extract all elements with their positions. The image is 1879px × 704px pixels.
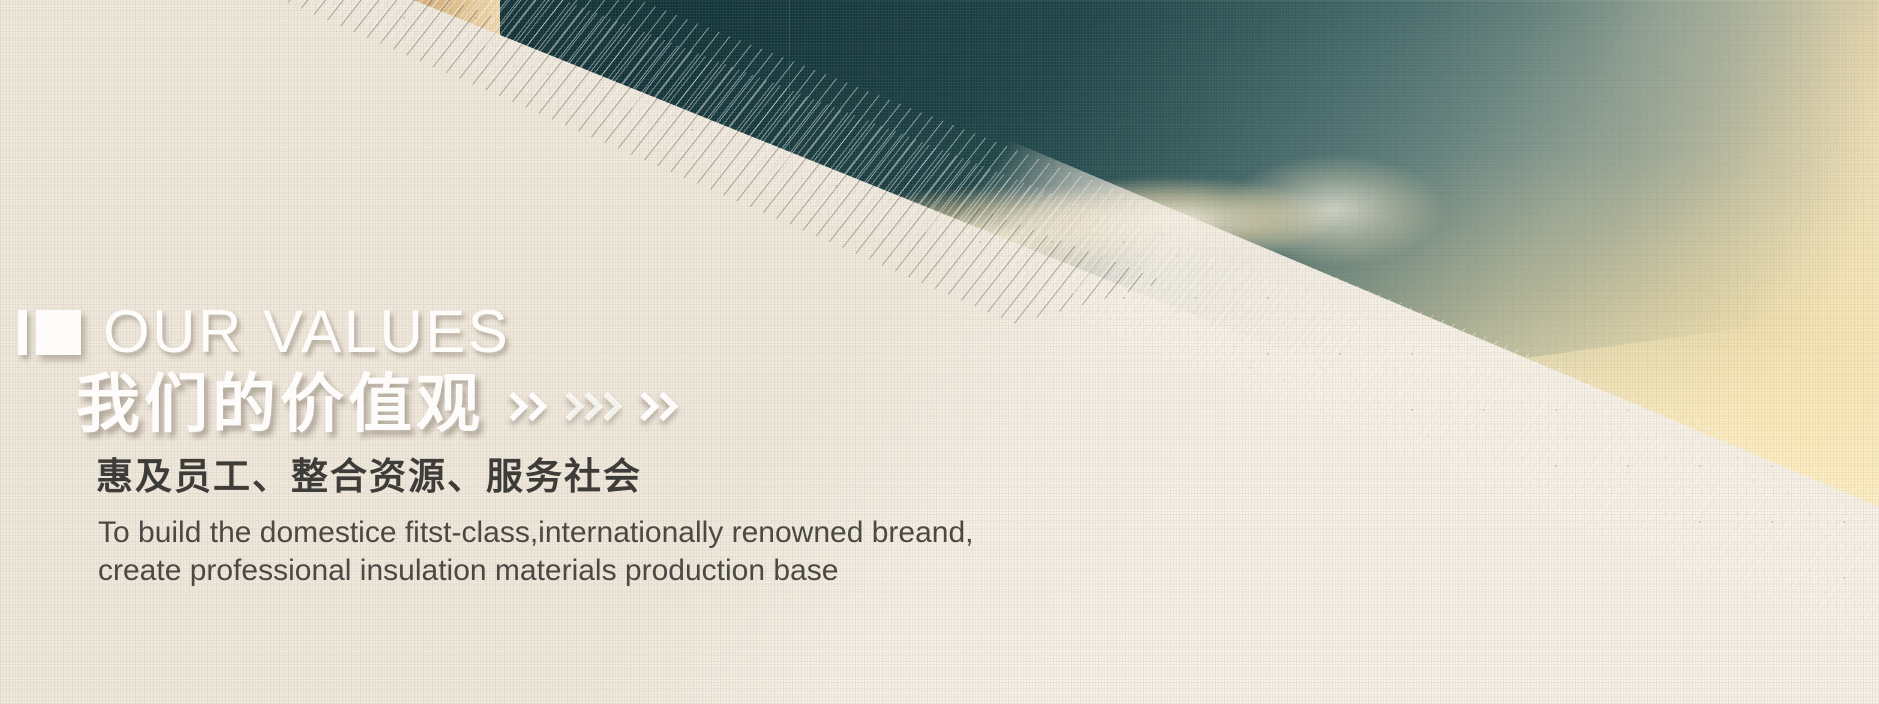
- tagline-line-2: create professional insulation materials…: [98, 552, 1438, 590]
- chevron-right-icon: [650, 391, 674, 425]
- heading-en-row: OUR VALUES: [18, 296, 1438, 368]
- marker-bar-icon: [18, 310, 27, 355]
- chevron-group-2: [556, 391, 613, 425]
- subtitle-cn: 惠及员工、整合资源、服务社会: [96, 457, 1438, 498]
- chevron-right-icon: [594, 391, 618, 425]
- marker-square-icon: [36, 310, 81, 355]
- heading-cn-row: 我们的价值观: [76, 370, 1438, 439]
- square-marker-icon: [18, 310, 81, 355]
- banner-text-block: OUR VALUES 我们的价值观 惠及员工、整合资源: [18, 296, 1438, 591]
- hero-banner: OUR VALUES 我们的价值观 惠及员工、整合资源: [0, 0, 1879, 704]
- chevron-group-1: [500, 391, 538, 425]
- chevron-decoration: [500, 391, 687, 425]
- chevron-right-icon: [519, 391, 543, 425]
- tagline-en: To build the domestice fitst-class,inter…: [98, 514, 1438, 591]
- page-title-cn: 我们的价值观: [76, 370, 484, 439]
- tagline-line-1: To build the domestice fitst-class,inter…: [98, 514, 1438, 552]
- page-title-en: OUR VALUES: [103, 302, 510, 362]
- chevron-group-3: [631, 391, 669, 425]
